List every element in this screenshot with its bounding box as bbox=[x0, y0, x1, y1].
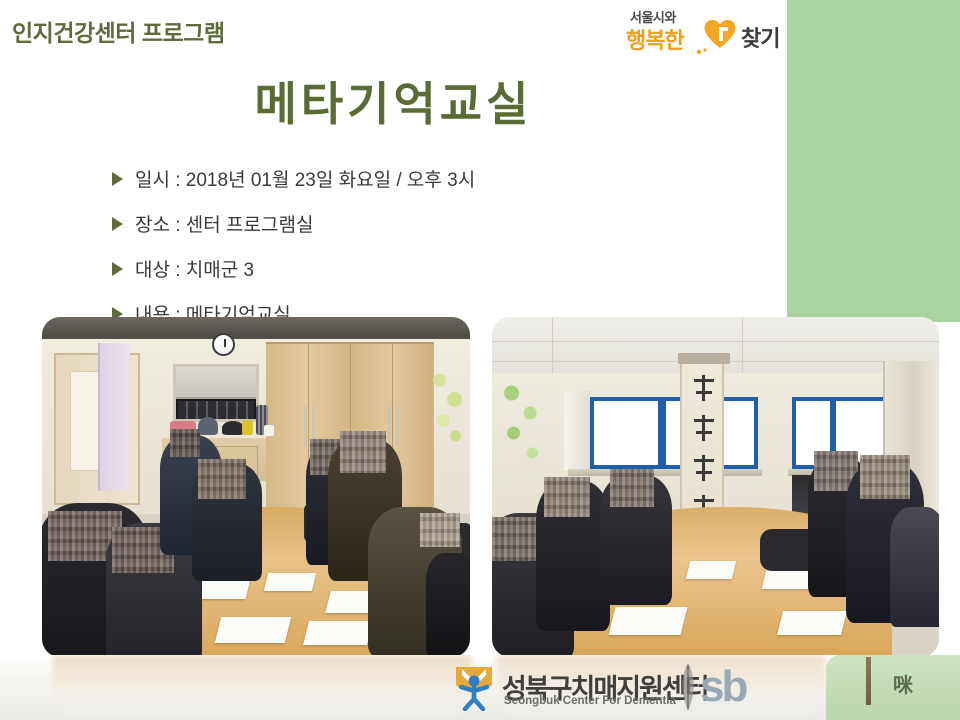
list-item: 장소 : 센터 프로그램실 bbox=[112, 201, 772, 246]
photo-right-classroom bbox=[492, 317, 939, 657]
list-item-label: 일시 : 2018년 01월 23일 화요일 / 오후 3시 bbox=[135, 165, 475, 192]
photo-left-content bbox=[42, 317, 470, 657]
worksheet-paper bbox=[303, 621, 373, 645]
blurred-face bbox=[340, 431, 386, 473]
program-info-list: 일시 : 2018년 01월 23일 화요일 / 오후 3시 장소 : 센터 프… bbox=[112, 156, 772, 336]
footer-green-glyph: 咪 bbox=[892, 673, 914, 699]
decor-pole bbox=[866, 657, 871, 705]
ceiling-seam bbox=[552, 317, 553, 381]
blurred-face bbox=[420, 513, 460, 547]
participant-body bbox=[426, 553, 470, 657]
participant bbox=[536, 481, 610, 631]
list-item: 대상 : 치매군 3 bbox=[112, 246, 772, 291]
blurred-face bbox=[610, 469, 654, 507]
seongbuk-center-for-dementia-logo: 성북구치매지원센터 Seongbuk Center For Dementia s… bbox=[452, 663, 770, 713]
participant bbox=[192, 463, 262, 581]
photo-left-classroom bbox=[42, 317, 470, 657]
feather-icon bbox=[678, 663, 698, 711]
wall-clock-icon bbox=[212, 333, 235, 356]
blurred-face bbox=[198, 459, 246, 499]
worksheet-paper bbox=[686, 561, 736, 579]
window-pane bbox=[594, 401, 658, 465]
center-mark-icon bbox=[452, 665, 496, 711]
footer-logo-mark: sb bbox=[700, 661, 745, 713]
footer-green-block: 咪 bbox=[826, 655, 960, 720]
photo-reflection-left bbox=[52, 655, 472, 720]
brand-logo-line2: 행복한 bbox=[626, 23, 684, 55]
window-blind bbox=[176, 367, 256, 399]
worksheet-paper bbox=[777, 611, 847, 635]
list-item-label: 대상 : 치매군 3 bbox=[135, 255, 254, 282]
page-title: 메타기억교실 bbox=[0, 68, 787, 134]
scroll-rod bbox=[678, 353, 730, 364]
green-accent-panel bbox=[787, 0, 960, 322]
ceiling-seam bbox=[742, 317, 743, 381]
participant bbox=[890, 507, 939, 627]
participant bbox=[600, 475, 672, 605]
wall-decor-plant bbox=[428, 361, 466, 457]
cabinet-handle bbox=[304, 406, 307, 448]
desk-item bbox=[264, 425, 274, 436]
participant bbox=[426, 553, 470, 657]
calligraphy-glyph bbox=[692, 455, 716, 481]
window bbox=[173, 364, 259, 422]
worksheet-paper bbox=[215, 617, 291, 643]
calligraphy-glyph bbox=[692, 375, 716, 401]
seoul-happy-finder-logo: 서울시와 행복한 찾기 bbox=[624, 6, 788, 54]
slide-canvas: 인지건강센터 프로그램 서울시와 행복한 찾기 메타기억교실 일시 : 2018… bbox=[0, 0, 960, 720]
wall-decor-plant bbox=[498, 379, 550, 479]
worksheet-paper bbox=[264, 573, 316, 591]
window-group bbox=[590, 397, 758, 469]
desk-item bbox=[222, 421, 244, 435]
triangle-right-icon bbox=[112, 217, 123, 231]
triangle-right-icon bbox=[112, 262, 123, 276]
page-header-label: 인지건강센터 프로그램 bbox=[12, 14, 225, 48]
triangle-right-icon bbox=[112, 172, 123, 186]
desk-item bbox=[198, 417, 218, 435]
ceiling-seam bbox=[492, 341, 939, 342]
window-curtain bbox=[564, 391, 590, 471]
brand-logo-line3: 찾기 bbox=[741, 21, 779, 53]
door-secondary bbox=[98, 343, 130, 491]
brand-dots-icon bbox=[696, 42, 710, 50]
list-item-label: 장소 : 센터 프로그램실 bbox=[135, 210, 313, 237]
blurred-face bbox=[170, 429, 200, 457]
blurred-face bbox=[544, 477, 590, 517]
window-slats bbox=[178, 401, 254, 419]
worksheet-paper bbox=[609, 607, 688, 635]
participant-body bbox=[890, 507, 939, 627]
desk-item bbox=[242, 420, 253, 435]
blurred-face bbox=[860, 455, 910, 499]
footer-logo-subtitle: Seongbuk Center For Dementia bbox=[504, 695, 676, 707]
calligraphy-glyph bbox=[692, 415, 716, 441]
photo-right-content bbox=[492, 317, 939, 657]
list-item: 일시 : 2018년 01월 23일 화요일 / 오후 3시 bbox=[112, 156, 772, 201]
